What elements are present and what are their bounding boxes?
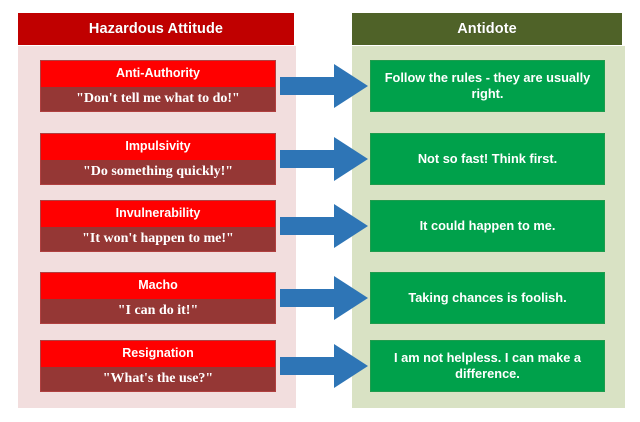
hazard-quote: "Don't tell me what to do!" [41,87,275,111]
hazard-quote: "Do something quickly!" [41,160,275,184]
hazard-quote: "What's the use?" [41,367,275,391]
antidote-card: Not so fast! Think first. [370,133,605,185]
hazard-card: Anti-Authority "Don't tell me what to do… [40,60,276,112]
hazard-card: Impulsivity "Do something quickly!" [40,133,276,185]
arrow-right-icon [280,137,368,181]
hazard-card: Resignation "What's the use?" [40,340,276,392]
hazard-quote: "It won't happen to me!" [41,227,275,251]
arrow-right-icon [280,276,368,320]
antidote-card: Follow the rules - they are usually righ… [370,60,605,112]
hazard-title: Invulnerability [41,201,275,227]
hazard-title: Macho [41,273,275,299]
arrow-right-icon [280,64,368,108]
hazard-title: Resignation [41,341,275,367]
antidote-card: It could happen to me. [370,200,605,252]
hazard-card: Invulnerability "It won't happen to me!" [40,200,276,252]
arrow-right-icon [280,344,368,388]
antidote-card: I am not helpless. I can make a differen… [370,340,605,392]
hazard-title: Impulsivity [41,134,275,160]
hazardous-attitudes-diagram: Hazardous Attitude Antidote Anti-Authori… [0,0,640,422]
hazard-title: Anti-Authority [41,61,275,87]
hazard-column-header: Hazardous Attitude [18,13,294,45]
antidote-column-header: Antidote [352,13,622,45]
antidote-card: Taking chances is foolish. [370,272,605,324]
arrow-right-icon [280,204,368,248]
hazard-card: Macho "I can do it!" [40,272,276,324]
hazard-quote: "I can do it!" [41,299,275,323]
